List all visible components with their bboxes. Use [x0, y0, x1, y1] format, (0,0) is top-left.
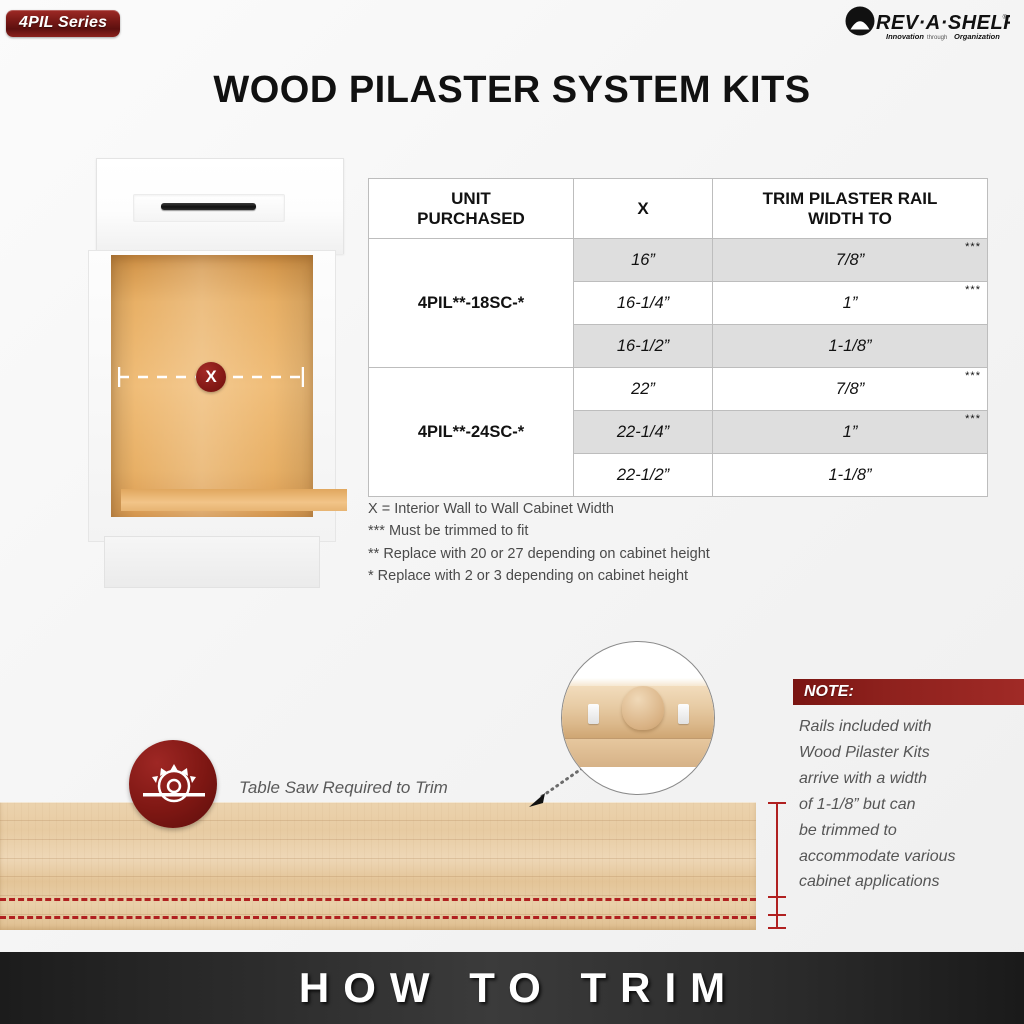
table-header-row: UNIT PURCHASED X TRIM PILASTER RAIL WIDT…: [369, 179, 988, 239]
note-body: Rails included with Wood Pilaster Kits a…: [799, 714, 1017, 895]
rail-bottom-edge: [561, 738, 715, 767]
cell-x-value: 22”: [574, 368, 713, 411]
header-line-2: PURCHASED: [373, 209, 569, 229]
cabinet-illustration: X: [88, 158, 350, 593]
saw-caption: Table Saw Required to Trim: [239, 778, 448, 798]
svg-text:REV·A·SHELF: REV·A·SHELF: [876, 12, 1010, 34]
spec-table-wrapper: UNIT PURCHASED X TRIM PILASTER RAIL WIDT…: [368, 178, 960, 497]
header-line-1: X: [578, 199, 708, 219]
footnote-marker: ***: [965, 241, 981, 253]
page-title: WOOD PILASTER SYSTEM KITS: [0, 69, 1024, 112]
cell-trim-value: 7/8” ***: [713, 368, 988, 411]
svg-text:through: through: [927, 35, 947, 41]
footnotes-block: X = Interior Wall to Wall Cabinet Width …: [368, 498, 828, 588]
cell-x-value: 16-1/4”: [574, 282, 713, 325]
cell-unit-purchased: 4PIL**-24SC-*: [369, 368, 574, 497]
svg-text:Innovation: Innovation: [886, 32, 924, 41]
rail-peg-left: [588, 704, 599, 724]
infographic-canvas: 4PIL Series REV·A·SHELF ® Innovation thr…: [0, 0, 1024, 1024]
cell-x-value: 16”: [574, 239, 713, 282]
wood-plank: [0, 802, 756, 930]
table-saw-badge: [129, 740, 217, 828]
note-line: Wood Pilaster Kits: [799, 740, 1017, 766]
note-heading: NOTE:: [793, 683, 854, 701]
cell-trim-value: 1-1/8”: [713, 454, 988, 497]
rail-peg-right: [678, 704, 689, 724]
svg-text:Organization: Organization: [954, 32, 1000, 41]
cell-trim-value: 1” ***: [713, 282, 988, 325]
spec-table: UNIT PURCHASED X TRIM PILASTER RAIL WIDT…: [368, 178, 988, 497]
cell-unit-purchased: 4PIL**-18SC-*: [369, 239, 574, 368]
width-dimension-line: X: [118, 364, 304, 390]
footnote-marker: ***: [965, 413, 981, 425]
note-line: cabinet applications: [799, 869, 1017, 895]
trim-value-text: 1”: [843, 294, 858, 312]
cabinet-handle: [161, 203, 256, 210]
cabinet-body: [88, 250, 336, 542]
trim-value-text: 1”: [843, 423, 858, 441]
footnote-line: ** Replace with 20 or 27 depending on ca…: [368, 543, 828, 565]
header-line-1: UNIT: [373, 189, 569, 209]
note-line: accommodate various: [799, 844, 1017, 870]
footnote-line: * Replace with 2 or 3 depending on cabin…: [368, 565, 828, 587]
header-line-1: TRIM PILASTER RAIL: [717, 189, 983, 209]
note-line: of 1-1/8” but can: [799, 792, 1017, 818]
column-header-x: X: [574, 179, 713, 239]
cell-trim-value: 1” ***: [713, 411, 988, 454]
cabinet-toe-kick: [104, 536, 320, 588]
trim-cut-line-upper: [0, 898, 756, 901]
footnote-line: X = Interior Wall to Wall Cabinet Width: [368, 498, 828, 520]
column-header-unit-purchased: UNIT PURCHASED: [369, 179, 574, 239]
saw-blade-icon: [143, 762, 205, 804]
trim-value-text: 1-1/8”: [828, 337, 871, 355]
trim-value-text: 1-1/8”: [828, 466, 871, 484]
note-line: arrive with a width: [799, 766, 1017, 792]
table-row: 4PIL**-24SC-* 22” 7/8” ***: [369, 368, 988, 411]
cell-trim-value: 7/8” ***: [713, 239, 988, 282]
rail-top-edge: [561, 678, 715, 686]
trim-value-text: 7/8”: [836, 251, 864, 269]
rail-detail-callout: [561, 641, 715, 795]
plank-height-dimension: [765, 800, 789, 930]
cabinet-floor: [121, 489, 347, 511]
trim-value-text: 7/8”: [836, 380, 864, 398]
note-header: NOTE:: [793, 679, 1024, 705]
footnote-marker: ***: [965, 370, 981, 382]
column-header-trim-width: TRIM PILASTER RAIL WIDTH TO: [713, 179, 988, 239]
bottom-banner: HOW TO TRIM: [0, 952, 1024, 1024]
note-line: be trimmed to: [799, 818, 1017, 844]
trim-cut-line-lower: [0, 916, 756, 919]
rail-knob: [622, 686, 664, 730]
cell-x-value: 22-1/2”: [574, 454, 713, 497]
note-line: Rails included with: [799, 714, 1017, 740]
table-row: 4PIL**-18SC-* 16” 7/8” ***: [369, 239, 988, 282]
table-head: UNIT PURCHASED X TRIM PILASTER RAIL WIDT…: [369, 179, 988, 239]
svg-text:®: ®: [1003, 14, 1008, 21]
header-line-2: WIDTH TO: [717, 209, 983, 229]
cell-trim-value: 1-1/8”: [713, 325, 988, 368]
footnote-line: *** Must be trimmed to fit: [368, 520, 828, 542]
table-body: 4PIL**-18SC-* 16” 7/8” *** 16-1/4” 1” **…: [369, 239, 988, 497]
cell-x-value: 22-1/4”: [574, 411, 713, 454]
series-badge: 4PIL Series: [6, 10, 120, 37]
footnote-marker: ***: [965, 284, 981, 296]
brand-logo-icon: REV·A·SHELF ® Innovation through Organiz…: [844, 4, 1010, 44]
rev-a-shelf-logo: REV·A·SHELF ® Innovation through Organiz…: [844, 4, 1010, 44]
cell-x-value: 16-1/2”: [574, 325, 713, 368]
x-marker-badge: X: [196, 362, 226, 392]
banner-title: HOW TO TRIM: [285, 964, 739, 1012]
